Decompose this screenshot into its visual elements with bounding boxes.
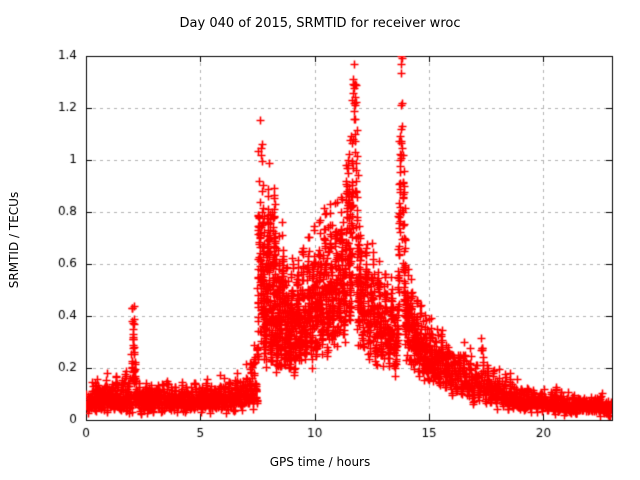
- chart-title: Day 040 of 2015, SRMTID for receiver wro…: [0, 16, 640, 31]
- y-axis-label: SRMTID / TECUs: [7, 160, 21, 320]
- chart-container: Day 040 of 2015, SRMTID for receiver wro…: [0, 0, 640, 480]
- scatter-plot-canvas: [0, 0, 640, 480]
- x-axis-label: GPS time / hours: [0, 455, 640, 469]
